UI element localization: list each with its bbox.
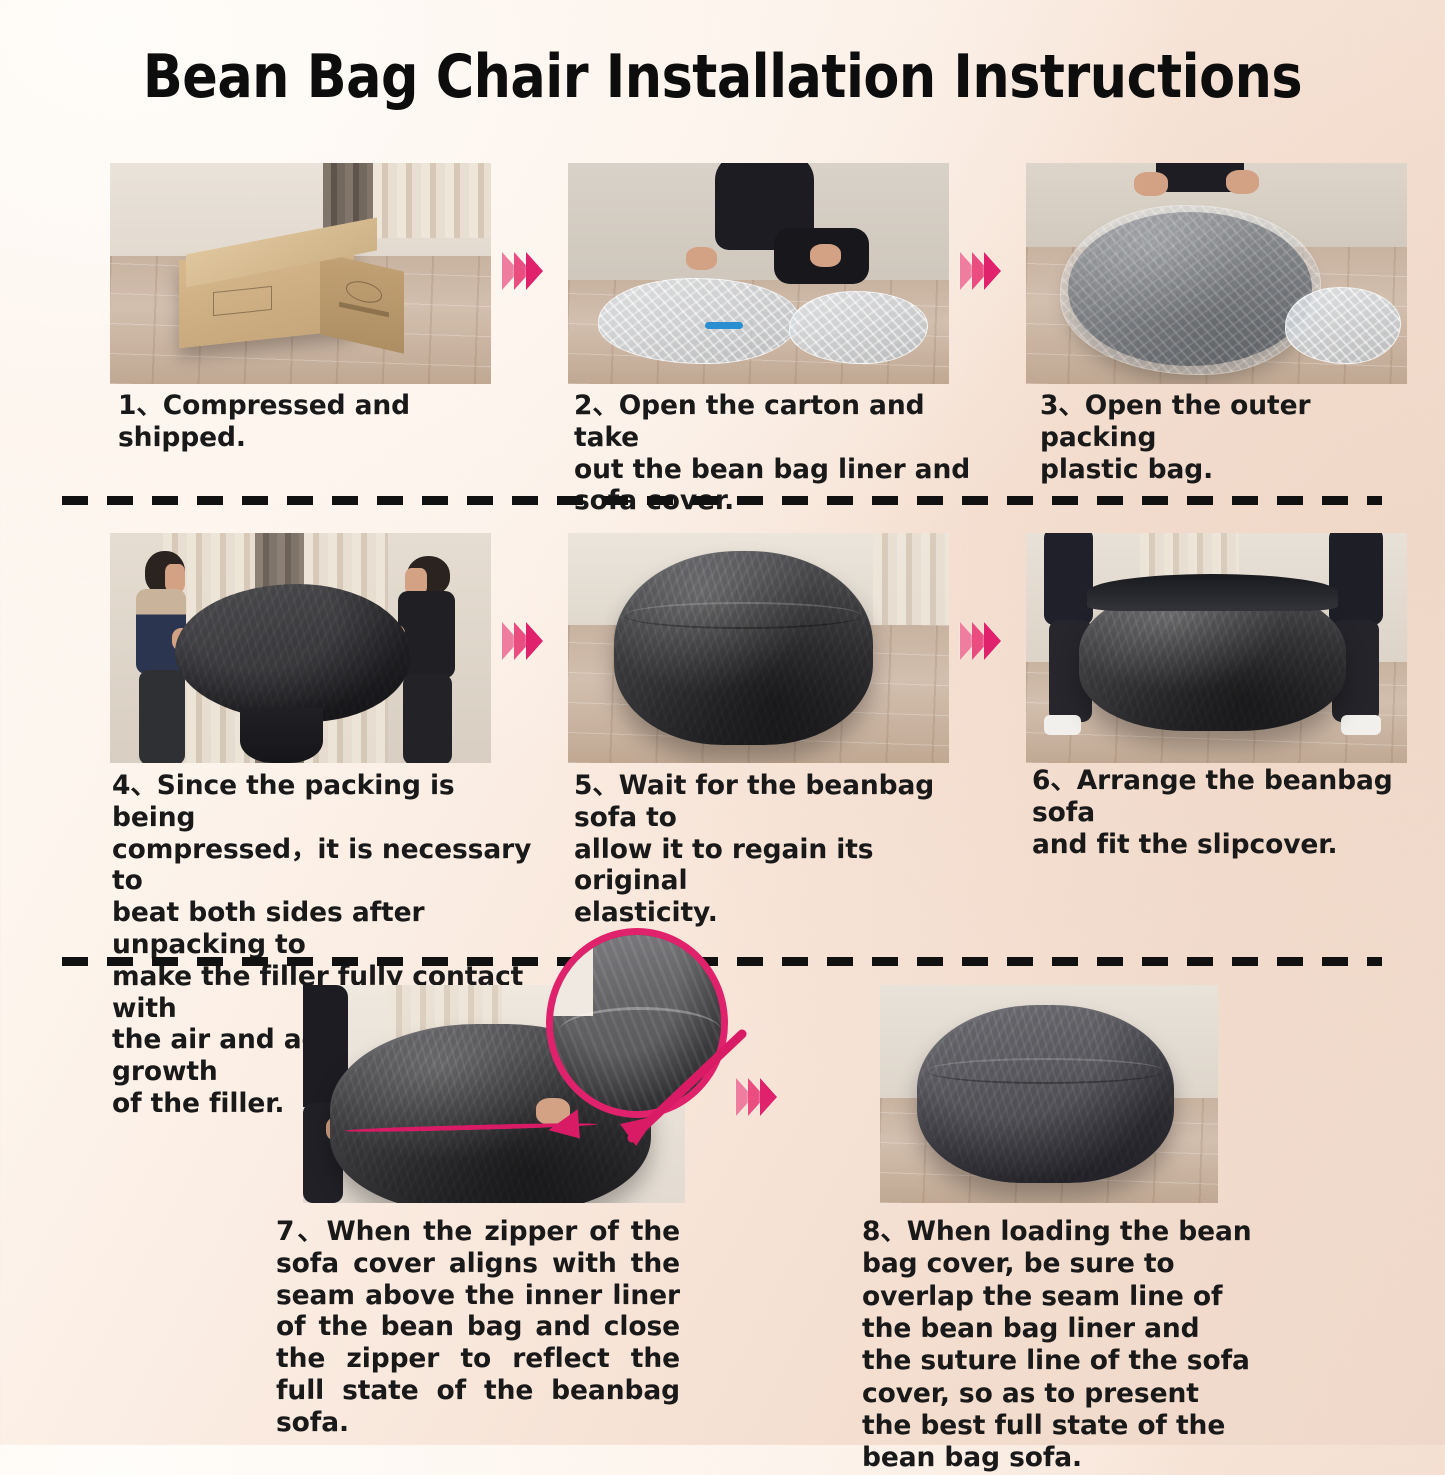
scene-two-men-holding-bag — [110, 533, 491, 763]
legs — [403, 674, 452, 763]
vacuum-valve — [705, 322, 743, 329]
magnifier-callout-ellipse — [546, 928, 728, 1118]
step-1-image — [110, 163, 491, 384]
bean-bag-expanded — [614, 551, 873, 744]
bean-bag-finished — [917, 1005, 1174, 1184]
shoe — [1044, 715, 1081, 736]
bean-bag-seam — [927, 1058, 1163, 1083]
step-8-image — [880, 985, 1218, 1203]
torso — [1044, 533, 1093, 625]
chevron-icon — [984, 622, 1001, 660]
fabric-texture — [175, 584, 411, 722]
chevron-icon — [760, 1078, 777, 1116]
legs — [139, 670, 185, 763]
scene-unpacking — [568, 163, 949, 384]
step-2-image — [568, 163, 949, 384]
divider-row1-row2 — [62, 496, 1382, 505]
step-4-image — [110, 533, 491, 763]
fabric-texture — [917, 1005, 1174, 1184]
step-6-caption: 6、Arrange the beanbag sofa and fit the s… — [1032, 765, 1432, 860]
seam-line — [559, 1007, 722, 1056]
scene-room-with-box — [110, 163, 491, 384]
page-title: Bean Bag Chair Installation Instructions — [22, 42, 1424, 112]
torso — [1329, 533, 1383, 625]
step-8-caption: 8、When loading the bean bag cover, be su… — [862, 1216, 1254, 1475]
bean-bag-liner-black — [175, 584, 411, 722]
face — [165, 564, 185, 592]
step-7-caption: 7、When the zipper of the sofa cover alig… — [276, 1216, 680, 1439]
chevron-icon — [984, 252, 1001, 290]
hand-left — [1134, 172, 1168, 196]
arrow-step1-to-step2 — [502, 252, 538, 290]
step-3-image — [1026, 163, 1407, 384]
step-5-caption: 5、Wait for the beanbag sofa to allow it … — [574, 770, 974, 929]
vacuum-bag-small — [789, 291, 928, 364]
arrow-step4-to-step5 — [502, 622, 538, 660]
chevron-icon — [526, 622, 543, 660]
step-5-image — [568, 533, 949, 763]
magnified-seam-view — [552, 934, 722, 1112]
arrow-step5-to-step6 — [960, 622, 996, 660]
shoe — [1341, 715, 1381, 736]
step-6-image — [1026, 533, 1407, 763]
scene-fitting-slipcover — [1026, 533, 1407, 763]
arrow-step2-to-step3 — [960, 252, 996, 290]
scene-expanded-bean-bag — [568, 533, 949, 763]
arrow-step7-to-step8 — [736, 1078, 772, 1116]
step-1-caption: 1、Compressed and shipped. — [118, 390, 538, 454]
instruction-sheet: Bean Bag Chair Installation Instructions — [0, 0, 1445, 1445]
plastic-bag-side — [1285, 287, 1401, 364]
curtain-light — [873, 533, 949, 639]
wall — [552, 934, 593, 1016]
divider-row2-row3 — [62, 957, 1382, 966]
hand-left — [686, 247, 717, 270]
hand-right — [810, 244, 841, 267]
slipcover-edge-being-pulled — [1087, 574, 1338, 611]
fabric-texture — [614, 551, 873, 744]
hand-right — [1226, 170, 1260, 194]
bag-bottom-fold — [240, 708, 324, 763]
step-3-caption: 3、Open the outer packing plastic bag. — [1040, 390, 1430, 485]
curtain-light — [373, 163, 491, 238]
scene-finished-bean-bag — [880, 985, 1218, 1203]
plastic-wrap-over-bag — [1060, 205, 1321, 375]
annotation-arrow-head — [540, 1107, 582, 1149]
scene-opening-plastic — [1026, 163, 1407, 384]
chevron-icon — [526, 252, 543, 290]
vacuum-bag-large — [598, 278, 798, 364]
bean-bag-seam — [624, 602, 862, 629]
